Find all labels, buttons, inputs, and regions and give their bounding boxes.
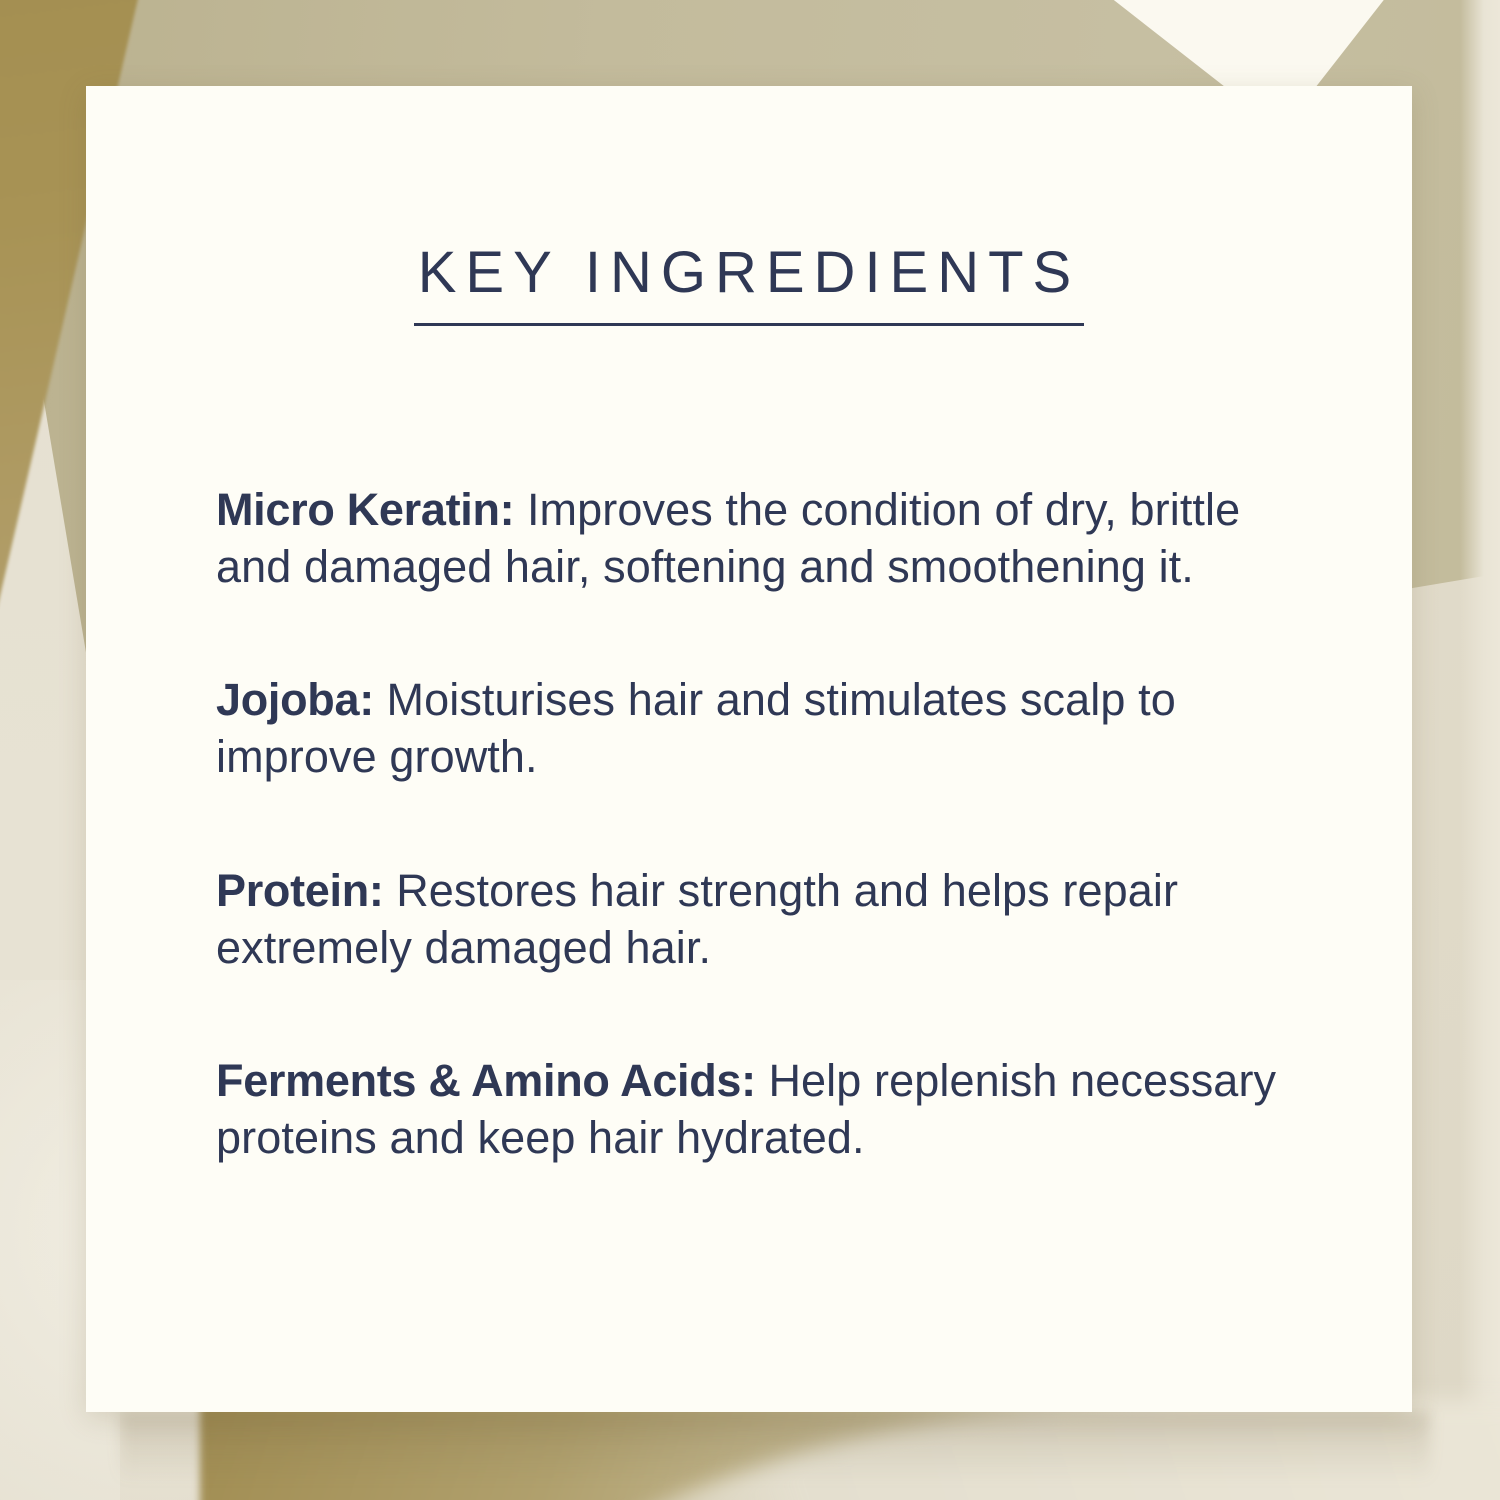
ingredient-list: Micro Keratin: Improves the condition of… xyxy=(216,436,1321,1166)
ingredient-item-micro-keratin: Micro Keratin: Improves the condition of… xyxy=(216,481,1321,595)
ingredient-name-micro-keratin: Micro Keratin: xyxy=(216,484,514,535)
ingredient-name-jojoba: Jojoba: xyxy=(216,674,374,725)
ingredient-name-protein: Protein: xyxy=(216,865,384,916)
page-title: KEY INGREDIENTS xyxy=(414,241,1085,326)
ingredient-item-protein: Protein: Restores hair strength and help… xyxy=(216,862,1321,976)
ingredient-item-jojoba: Jojoba: Moisturises hair and stimulates … xyxy=(216,671,1321,785)
title-block: KEY INGREDIENTS xyxy=(86,241,1412,326)
card-drop-shadow xyxy=(120,1412,1430,1482)
ingredient-item-ferments-amino-acids: Ferments & Amino Acids: Help replenish n… xyxy=(216,1052,1321,1166)
background-right-strip xyxy=(1460,0,1500,1500)
ingredient-name-ferments-amino-acids: Ferments & Amino Acids: xyxy=(216,1055,756,1106)
key-ingredients-card: KEY INGREDIENTS Micro Keratin: Improves … xyxy=(86,86,1412,1412)
